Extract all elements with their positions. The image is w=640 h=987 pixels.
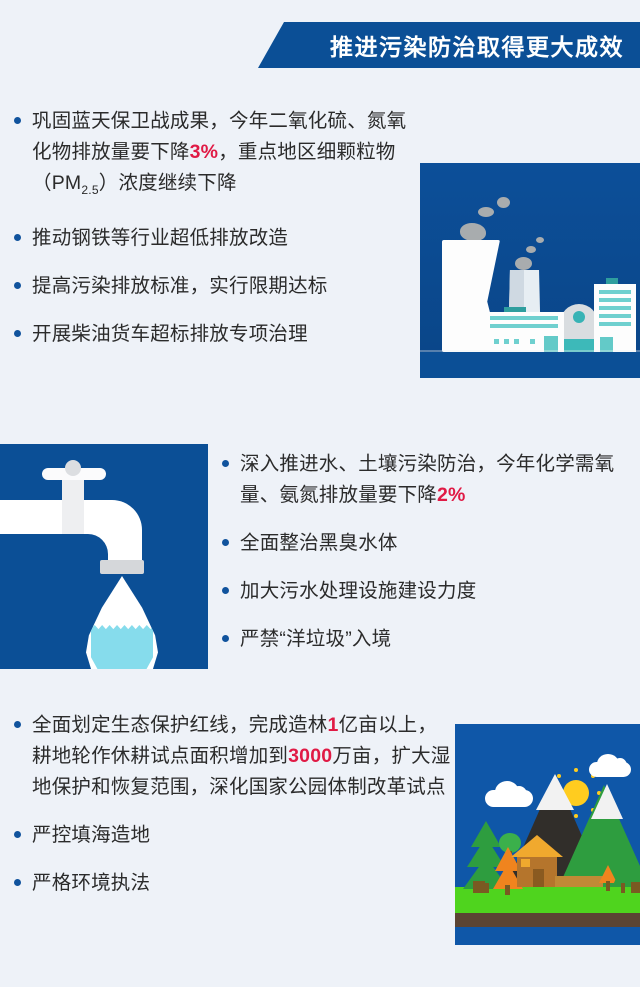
bullet-dot-icon (222, 587, 229, 594)
bullet-text: 巩固蓝天保卫战成果，今年二氧化硫、氮氧化物排放量要下降3%，重点地区细颗粒物（P… (32, 106, 424, 206)
bullet-dot-icon (14, 282, 21, 289)
bullet-dot-icon (222, 635, 229, 642)
subscript-text: 2.5 (81, 183, 98, 197)
smoke-cloud-icon (536, 237, 544, 243)
high-rise-cap (606, 278, 618, 284)
text-run: 深入推进水、土壤污染防治，今年化学需氧量、氨氮排放量要下降 (240, 453, 614, 506)
bullet-dot-icon (14, 879, 21, 886)
bullet-item: 严格环境执法 (14, 868, 454, 899)
text-run: 加大污水处理设施建设力度 (240, 580, 476, 602)
smoke-cloud-icon (460, 223, 486, 241)
bullet-item: 严控填海造地 (14, 820, 454, 851)
text-run: 推动钢铁等行业超低排放改造 (32, 227, 288, 249)
cabin-roof (511, 835, 563, 857)
bullet-item: 全面划定生态保护红线，完成造林1亿亩以上，耕地轮作休耕试点面积增加到3000万亩… (14, 710, 454, 803)
bullet-text: 严禁“洋垃圾”入境 (240, 624, 391, 655)
bullet-text: 提高污染排放标准，实行限期达标 (32, 271, 328, 302)
bullet-text: 深入推进水、土壤污染防治，今年化学需氧量、氨氮排放量要下降2% (240, 449, 634, 511)
smoke-cloud-icon (497, 197, 510, 208)
factory-ground-line (420, 350, 640, 352)
text-run: 全面整治黑臭水体 (240, 532, 398, 554)
bullet-text: 加大污水处理设施建设力度 (240, 576, 476, 607)
bullet-text: 严控填海造地 (32, 820, 150, 851)
bullet-item: 全面整治黑臭水体 (222, 528, 634, 559)
bullet-dot-icon (222, 539, 229, 546)
faucet-spout-icon (100, 560, 144, 574)
factory-smokestack-illustration (420, 163, 640, 378)
droplet-shape (86, 576, 158, 669)
water-droplet-icon (86, 576, 158, 669)
cabin-door (533, 869, 544, 887)
text-run: 严控填海造地 (32, 824, 150, 846)
dripping-faucet-illustration (0, 444, 208, 669)
factory-ground (420, 352, 640, 378)
text-run: 严禁“洋垃圾”入境 (240, 628, 391, 650)
bullet-text: 推动钢铁等行业超低排放改造 (32, 223, 288, 254)
highlight-value: 3% (190, 141, 219, 163)
highlight-value: 3000 (288, 745, 332, 767)
bullet-text: 全面划定生态保护红线，完成造林1亿亩以上，耕地轮作休耕试点面积增加到3000万亩… (32, 710, 454, 803)
header-banner: 推进污染防治取得更大成效 (258, 22, 640, 68)
text-run: 开展柴油货车超标排放专项治理 (32, 323, 308, 345)
pine-tree-icon (613, 863, 633, 885)
bullet-dot-icon (14, 721, 21, 728)
bullet-text: 严格环境执法 (32, 868, 150, 899)
faucet-knob-icon (65, 460, 81, 476)
bullet-text: 全面整治黑臭水体 (240, 528, 398, 559)
gas-tank-valve (573, 311, 585, 323)
cabin-window (521, 859, 530, 867)
mountain-snow-cap (591, 784, 623, 819)
bullet-item: 严禁“洋垃圾”入境 (222, 624, 634, 655)
bullet-dot-icon (14, 234, 21, 241)
bullet-dot-icon (14, 330, 21, 337)
infographic-page: 推进污染防治取得更大成效 巩固蓝天保卫战成果，今年二氧化硫、氮氧化物排放量要下降… (0, 0, 640, 987)
air-pollution-bullet-list: 巩固蓝天保卫战成果，今年二氧化硫、氮氧化物排放量要下降3%，重点地区细颗粒物（P… (14, 106, 424, 350)
bullet-item: 开展柴油货车超标排放专项治理 (14, 319, 424, 350)
bullet-dot-icon (14, 117, 21, 124)
soil-layer (455, 913, 640, 927)
bullet-item: 加大污水处理设施建设力度 (222, 576, 634, 607)
text-run: 提高污染排放标准，实行限期达标 (32, 275, 328, 297)
highlight-value: 2% (437, 484, 466, 506)
bullet-item: 巩固蓝天保卫战成果，今年二氧化硫、氮氧化物排放量要下降3%，重点地区细颗粒物（P… (14, 106, 424, 206)
ecology-bullet-list: 全面划定生态保护红线，完成造林1亿亩以上，耕地轮作休耕试点面积增加到3000万亩… (14, 710, 454, 899)
text-run: ）浓度继续下降 (99, 172, 237, 194)
mountain-nature-illustration (455, 724, 640, 945)
bullet-item: 提高污染排放标准，实行限期达标 (14, 271, 424, 302)
page-title: 推进污染防治取得更大成效 (330, 28, 624, 62)
fence-icon (555, 876, 603, 887)
nature-base (455, 927, 640, 945)
bullet-item: 推动钢铁等行业超低排放改造 (14, 223, 424, 254)
water-pollution-bullet-list: 深入推进水、土壤污染防治，今年化学需氧量、氨氮排放量要下降2%全面整治黑臭水体加… (222, 449, 634, 655)
bullet-item: 深入推进水、土壤污染防治，今年化学需氧量、氨氮排放量要下降2% (222, 449, 634, 511)
text-run: 全面划定生态保护红线，完成造林 (32, 714, 328, 736)
bullet-dot-icon (222, 460, 229, 467)
bullet-text: 开展柴油货车超标排放专项治理 (32, 319, 308, 350)
faucet-stem (62, 478, 84, 534)
high-rise-building-icon (594, 284, 636, 352)
smoke-cloud-icon (478, 207, 494, 217)
smoke-cloud-icon (515, 257, 532, 270)
highlight-value: 1 (328, 714, 339, 736)
droplet-water-fill (91, 625, 153, 669)
bullet-dot-icon (14, 831, 21, 838)
text-run: 严格环境执法 (32, 872, 150, 894)
smoke-cloud-icon (526, 246, 536, 253)
factory-building-icon (484, 312, 564, 352)
